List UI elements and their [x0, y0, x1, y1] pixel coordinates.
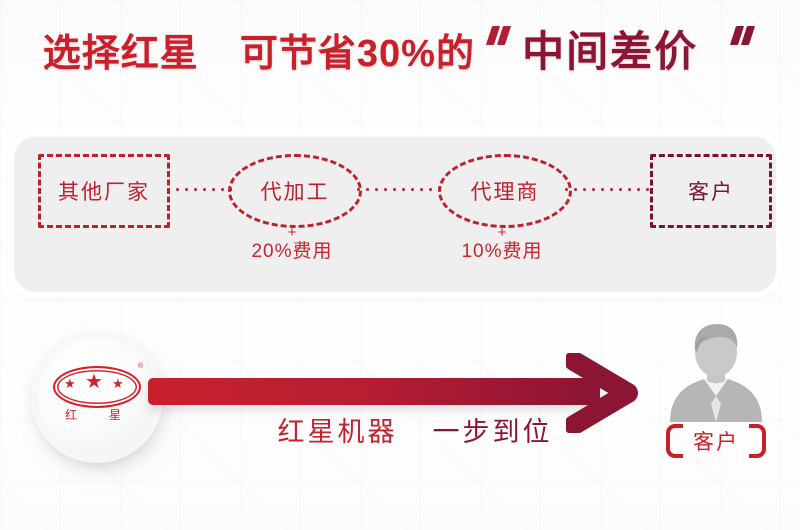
- bracket-right-icon: [749, 424, 766, 458]
- direct-supply-arrow: [148, 375, 658, 409]
- flow-node-label: 代加工: [261, 176, 330, 206]
- fee-oem-processing: + 20%费用: [228, 226, 356, 264]
- customer-avatar-icon: [660, 322, 772, 422]
- connector-dots-1: [164, 188, 232, 191]
- registered-trademark-icon: ®: [138, 363, 143, 370]
- logo-star-right-icon: ★: [112, 377, 124, 390]
- middleman-flow-panel: 其他厂家 代加工 代理商 客户 + 20%费用 + 10%费用: [14, 136, 776, 292]
- logo-star-left-icon: ★: [64, 377, 76, 390]
- flow-node-label: 其他厂家: [58, 176, 150, 206]
- fee-plus-sign: +: [438, 226, 566, 240]
- connector-dots-3: [562, 188, 652, 191]
- fee-agent: + 10%费用: [438, 226, 566, 264]
- hongxing-logo-badge: ★ ★ ★ ® 红 星: [38, 338, 156, 456]
- quote-close-icon: [731, 22, 757, 60]
- logo-brand-char-1: 红: [65, 406, 78, 423]
- bracket-left-icon: [666, 424, 683, 458]
- headline-emphasis: 中间差价: [522, 28, 698, 75]
- flow-node-label: 代理商: [471, 176, 540, 206]
- slogan: 红星机器 一步到位: [255, 410, 575, 449]
- headline-part1: 选择红星: [43, 33, 199, 75]
- logo-mark: ★ ★ ★ ® 红 星: [51, 366, 143, 428]
- flow-node-agent: 代理商: [438, 154, 572, 228]
- quote-open-icon: [487, 22, 511, 60]
- poster-canvas: 选择红星 可节省30%的 中间差价 其他厂家 代加工 代理商 客户 + 20%费…: [0, 0, 800, 530]
- customer-avatar-label: 客户: [648, 424, 784, 458]
- slogan-part2: 一步到位: [433, 417, 553, 447]
- slogan-part1: 红星机器: [277, 417, 397, 447]
- headline-part2: 可节省30%的: [240, 33, 475, 75]
- flow-node-label: 客户: [688, 176, 734, 206]
- connector-dots-2: [354, 188, 442, 191]
- flow-node-oem-processing: 代加工: [228, 154, 362, 228]
- arrow-shaft: [148, 378, 600, 405]
- fee-amount: 10%费用: [438, 240, 566, 264]
- logo-star-center-icon: ★: [85, 372, 103, 392]
- flow-node-other-factory: 其他厂家: [38, 154, 170, 228]
- headline: 选择红星 可节省30%的 中间差价: [0, 22, 800, 84]
- logo-brand-char-2: 星: [109, 406, 122, 423]
- flow-node-customer: 客户: [650, 154, 772, 228]
- fee-plus-sign: +: [228, 226, 356, 240]
- customer-label-text: 客户: [693, 426, 739, 456]
- fee-amount: 20%费用: [228, 240, 356, 264]
